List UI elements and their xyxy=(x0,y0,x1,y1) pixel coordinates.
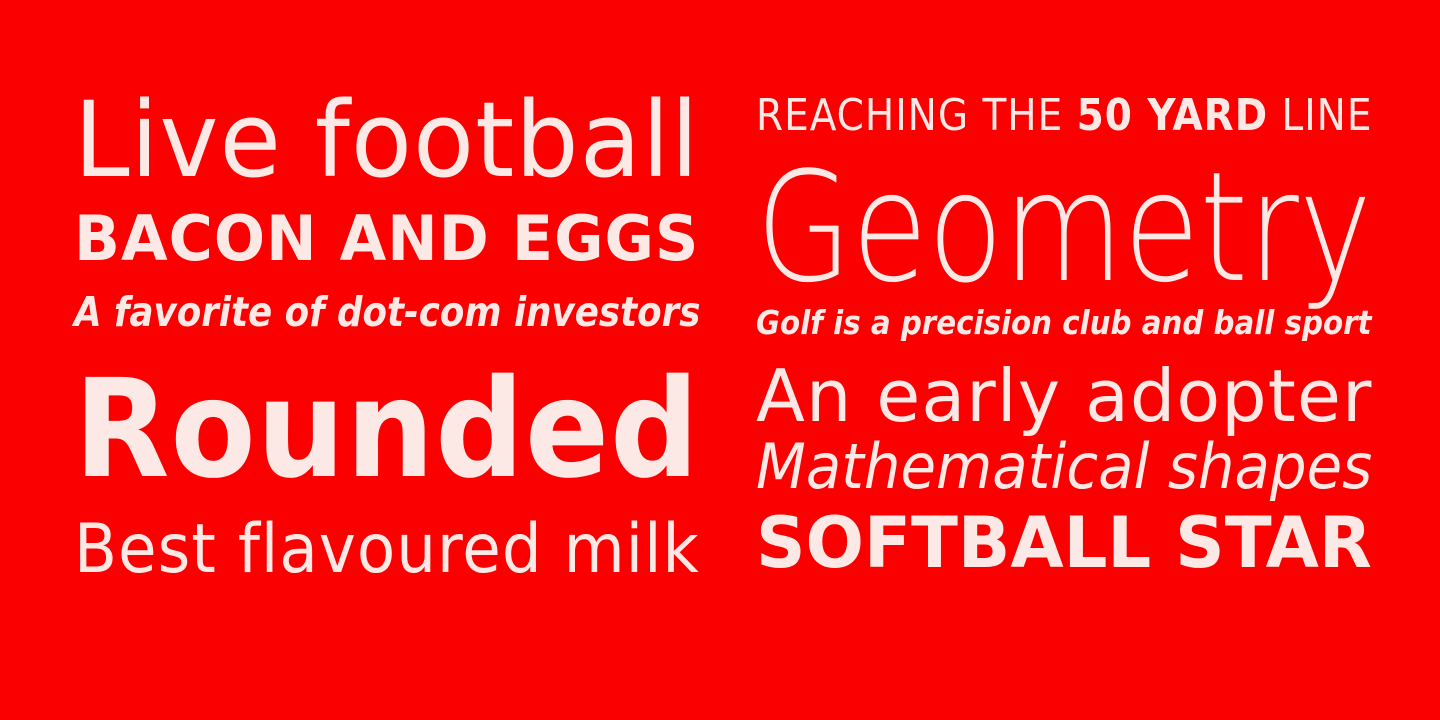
specimen-line-an-early-adopter: An early adopter xyxy=(756,360,1372,424)
specimen-text: Golf is a precision club and ball sport xyxy=(756,306,1372,339)
type-specimen-poster: Live football BACON AND EGGS A favorite … xyxy=(0,0,1440,720)
specimen-line-golf-precision-sport: Golf is a precision club and ball sport xyxy=(756,306,1372,338)
specimen-segment-light-2: LINE xyxy=(1268,90,1372,141)
specimen-line-dotcom-investors: A favorite of dot-com investors xyxy=(74,292,700,332)
specimen-text: Mathematical shapes xyxy=(756,436,1372,498)
specimen-line-rounded: Rounded xyxy=(74,362,700,480)
specimen-line-best-flavoured-milk: Best flavoured milk xyxy=(74,516,700,578)
specimen-text: Rounded xyxy=(74,362,700,498)
specimen-segment-bold: 50 YARD xyxy=(1077,90,1269,141)
specimen-line-live-football: Live football xyxy=(74,88,700,184)
specimen-line-geometry: Geometry xyxy=(756,152,1372,284)
specimen-text: Geometry xyxy=(756,152,1372,304)
specimen-text: An early adopter xyxy=(756,360,1372,432)
specimen-text: A favorite of dot-com investors xyxy=(74,292,700,333)
specimen-line-mathematical-shapes: Mathematical shapes xyxy=(756,436,1372,492)
specimen-line-softball-star: SOFTBALL STAR xyxy=(756,508,1372,572)
specimen-column-right: REACHING THE 50 YARD LINE Geometry Golf … xyxy=(756,0,1372,720)
specimen-text: Live football xyxy=(74,88,700,192)
specimen-text: Best flavoured milk xyxy=(74,516,700,584)
specimen-text: REACHING THE 50 YARD LINE xyxy=(756,94,1372,138)
specimen-line-reaching-50-yard: REACHING THE 50 YARD LINE xyxy=(756,94,1372,134)
specimen-column-left: Live football BACON AND EGGS A favorite … xyxy=(74,0,700,720)
specimen-text: SOFTBALL STAR xyxy=(756,508,1372,578)
specimen-text: BACON AND EGGS xyxy=(74,208,699,270)
specimen-segment-light-1: REACHING THE xyxy=(756,90,1077,141)
specimen-line-bacon-and-eggs: BACON AND EGGS xyxy=(74,208,700,266)
